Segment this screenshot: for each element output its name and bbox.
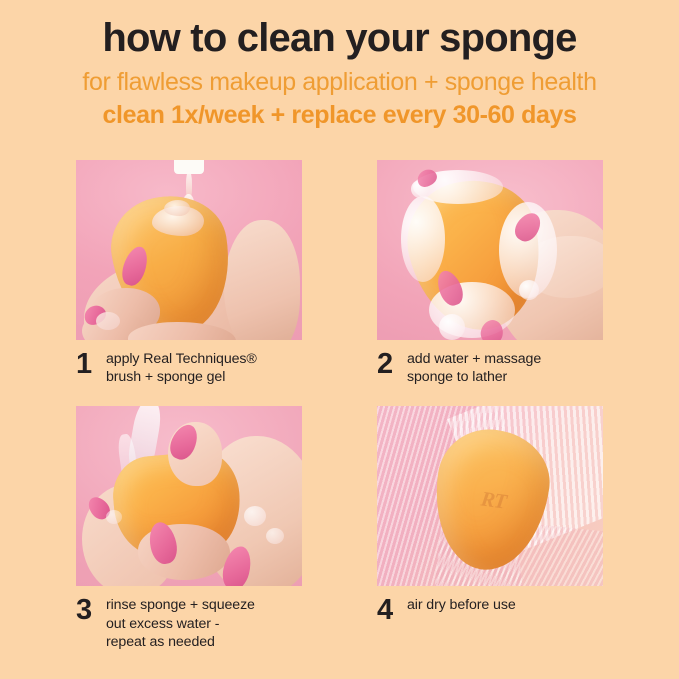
step-4: RT 4 air dry before use	[377, 406, 603, 651]
nail-tip-highlight	[96, 312, 120, 330]
thumb	[224, 220, 300, 340]
step-2-photo	[377, 160, 603, 340]
header: how to clean your sponge for flawless ma…	[0, 0, 679, 130]
steps-row-2: 3 rinse sponge + squeeze out excess wate…	[76, 406, 603, 651]
step-2-number: 2	[377, 350, 407, 379]
step-1: 1 apply Real Techniques® brush + sponge …	[76, 160, 302, 386]
step-3: 3 rinse sponge + squeeze out excess wate…	[76, 406, 302, 651]
step-2-text: add water + massage sponge to lather	[407, 349, 541, 386]
step-1-text: apply Real Techniques® brush + sponge ge…	[106, 349, 257, 386]
step-2: 2 add water + massage sponge to lather	[377, 160, 603, 386]
step-3-number: 3	[76, 596, 106, 625]
sponge-brand-mark: RT	[479, 487, 507, 515]
step-3-text: rinse sponge + squeeze out excess water …	[106, 595, 255, 651]
steps-grid: 1 apply Real Techniques® brush + sponge …	[76, 160, 603, 651]
step-2-caption: 2 add water + massage sponge to lather	[377, 349, 603, 386]
gel-pool-highlight	[164, 200, 190, 216]
step-1-caption: 1 apply Real Techniques® brush + sponge …	[76, 349, 302, 386]
step-3-caption: 3 rinse sponge + squeeze out excess wate…	[76, 595, 302, 651]
step-1-photo	[76, 160, 302, 340]
steps-row-1: 1 apply Real Techniques® brush + sponge …	[76, 160, 603, 386]
step-4-photo: RT	[377, 406, 603, 586]
page-title: how to clean your sponge	[0, 16, 679, 61]
foam-cluster-left	[401, 196, 445, 282]
step-1-number: 1	[76, 350, 106, 379]
step-4-number: 4	[377, 596, 407, 625]
step-4-caption: 4 air dry before use	[377, 595, 603, 625]
step-3-photo	[76, 406, 302, 586]
step-4-text: air dry before use	[407, 595, 516, 614]
subtitle-secondary: clean 1x/week + replace every 30-60 days	[0, 100, 679, 130]
subtitle-primary: for flawless makeup application + sponge…	[0, 67, 679, 97]
foam-bubble-b	[519, 280, 539, 300]
foam-bubble-a	[439, 314, 465, 340]
